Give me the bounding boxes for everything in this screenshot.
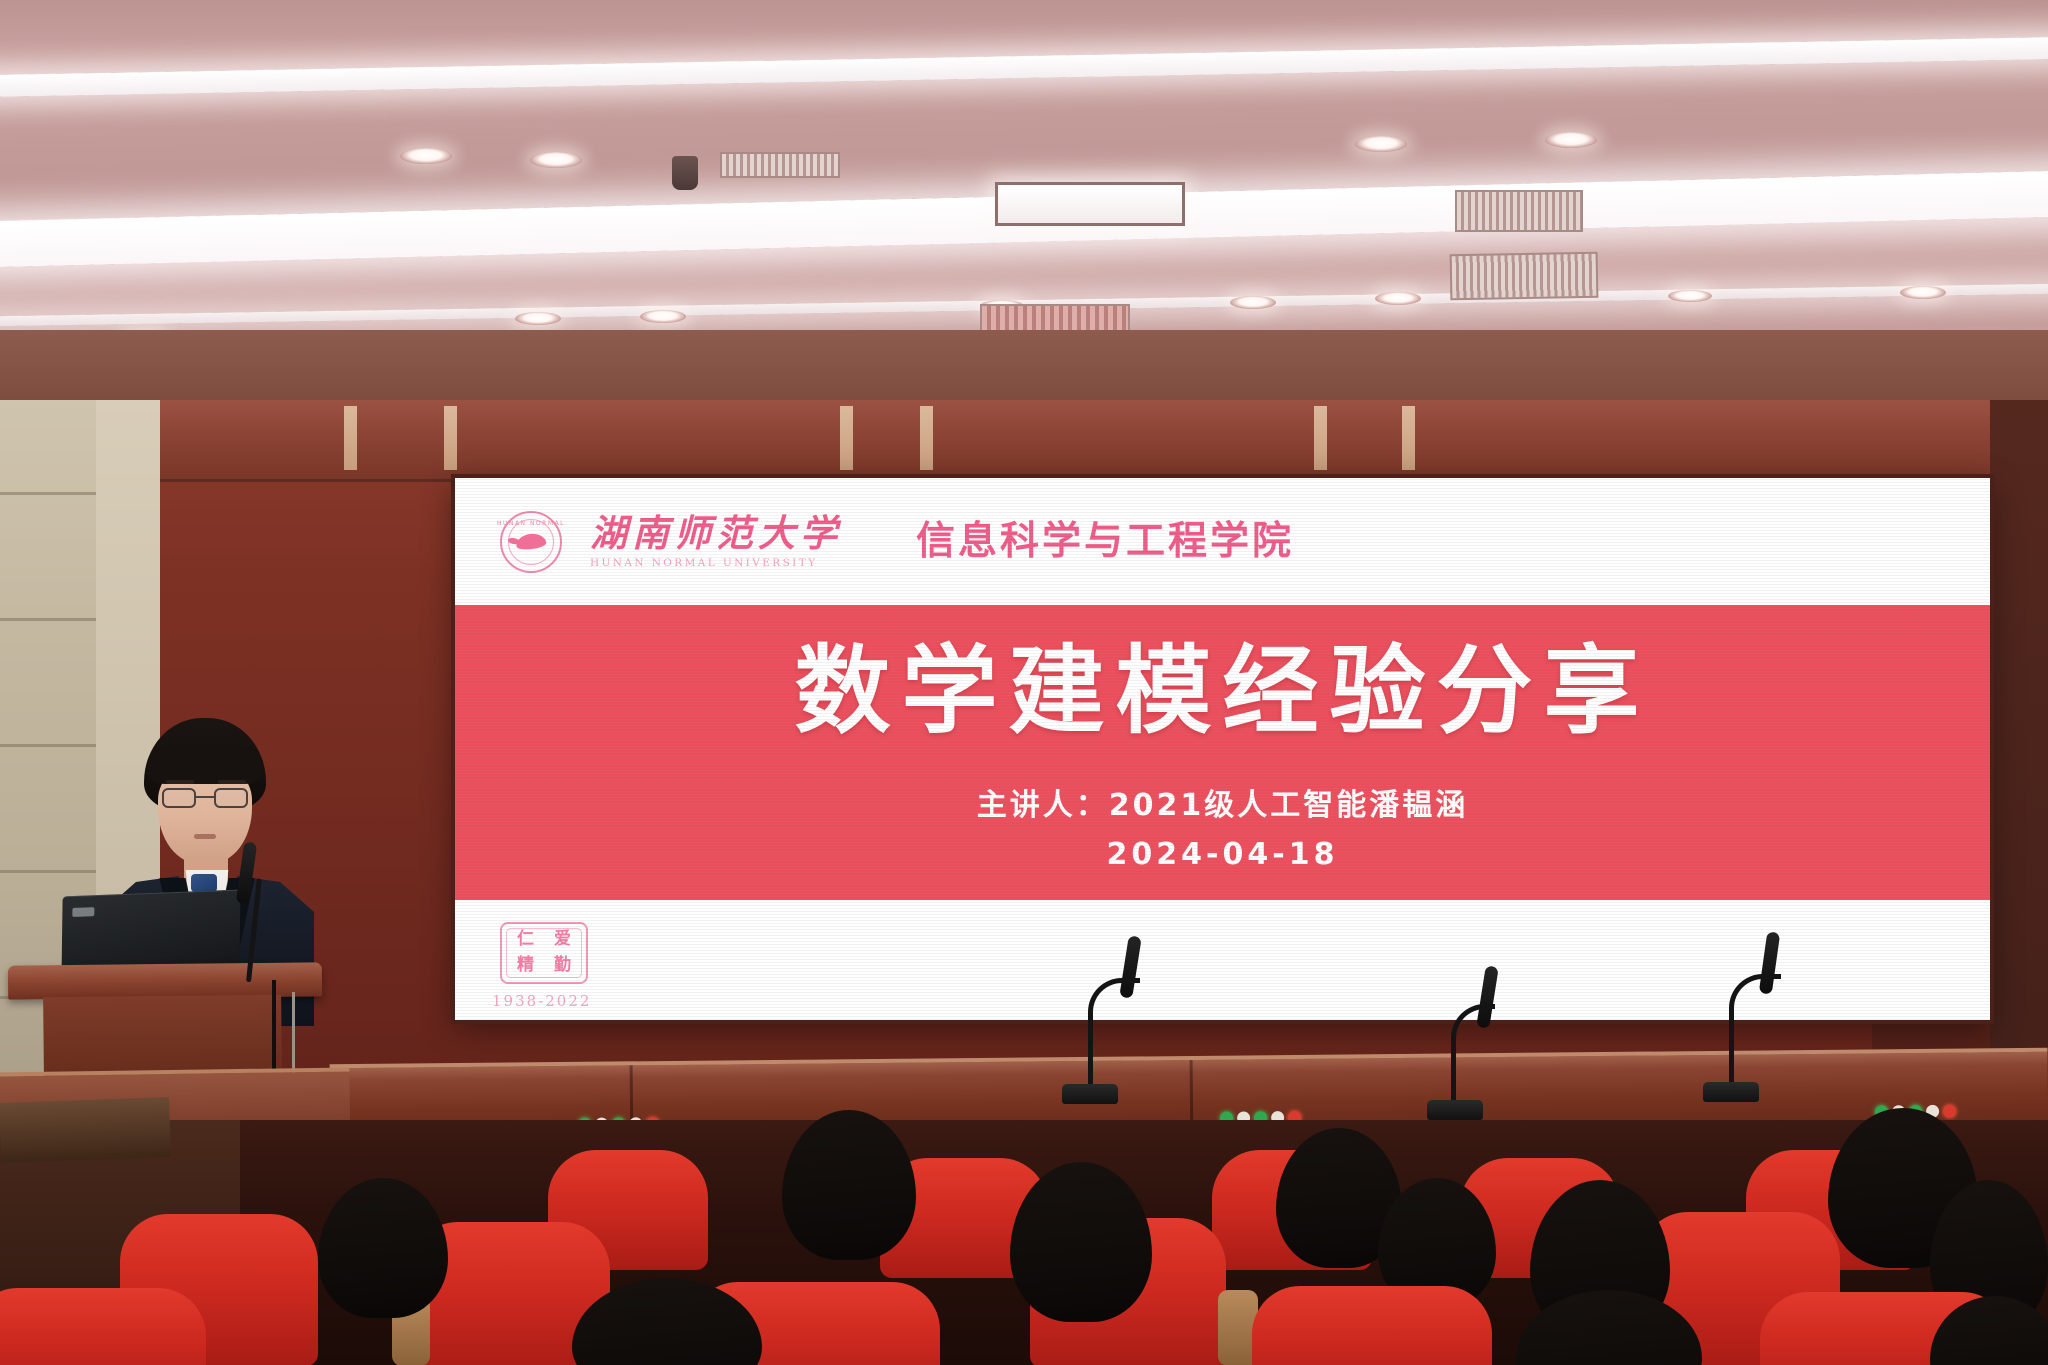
downlight-icon: [1668, 290, 1712, 302]
downlight-icon: [1355, 136, 1407, 152]
hvac-vent-icon: [1455, 190, 1583, 232]
hvac-vent-icon: [1450, 252, 1599, 301]
university-name-block: 湖南师范大学 HUNAN NORMAL UNIVERSITY: [590, 515, 842, 569]
seal-char: 勤: [544, 956, 581, 976]
speaker-fringe: [146, 744, 264, 784]
downlight-icon: [400, 148, 452, 164]
motto-seal-icon: 仁 爱 精 勤: [500, 922, 588, 984]
university-name-cn: 湖南师范大学: [590, 515, 842, 552]
speaker-mouth: [194, 834, 216, 839]
logo-arc-text: HUNAN NORMAL: [497, 520, 565, 527]
seal-anniversary-year: 1938-2022: [492, 992, 591, 1010]
downlight-icon: [1230, 296, 1276, 309]
downlight-icon: [515, 312, 561, 325]
wall-valance: [92, 400, 2048, 482]
downlight-icon: [530, 152, 582, 168]
seat[interactable]: [0, 1288, 206, 1365]
presentation-screen[interactable]: HUNAN NORMAL 湖南师范大学 HUNAN NORMAL UNIVERS…: [455, 478, 1990, 1020]
university-logo-icon: HUNAN NORMAL: [500, 511, 562, 573]
seal-char: 精: [507, 956, 544, 976]
seal-char: 仁: [507, 930, 544, 950]
ceiling-panel-light: [995, 182, 1185, 226]
ceiling: [0, 0, 2048, 340]
slide-subtitle-date: 2024-04-18: [455, 837, 1990, 872]
slide-title-band: 数学建模经验分享 主讲人：2021级人工智能潘韫涵 2024-04-18: [455, 605, 1990, 900]
downlight-icon: [640, 310, 686, 323]
downlight-icon: [1545, 132, 1597, 148]
logo-emblem-icon: [515, 532, 547, 551]
seal-char: 爱: [544, 930, 581, 950]
sprinkler-icon: [672, 156, 698, 190]
wall-edge-right: [1990, 400, 2048, 1120]
laptop-logo-icon: [72, 907, 94, 917]
aisle-rail: [0, 1097, 171, 1163]
slide-title: 数学建模经验分享: [455, 643, 1990, 739]
slide-header: HUNAN NORMAL 湖南师范大学 HUNAN NORMAL UNIVERS…: [455, 478, 1990, 605]
college-name: 信息科学与工程学院: [916, 522, 1294, 561]
university-name-en: HUNAN NORMAL UNIVERSITY: [590, 557, 842, 569]
lecture-hall-photo: HUNAN NORMAL 湖南师范大学 HUNAN NORMAL UNIVERS…: [0, 0, 2048, 1365]
downlight-icon: [1900, 286, 1946, 299]
presenter-laptop[interactable]: [62, 890, 241, 975]
hvac-vent-icon: [720, 152, 840, 178]
eyeglasses-icon: [162, 788, 248, 808]
downlight-icon: [1375, 292, 1421, 305]
slide-subtitle-speaker: 主讲人：2021级人工智能潘韫涵: [455, 780, 1990, 824]
seat[interactable]: [1252, 1286, 1492, 1365]
tie-knot: [191, 874, 217, 892]
